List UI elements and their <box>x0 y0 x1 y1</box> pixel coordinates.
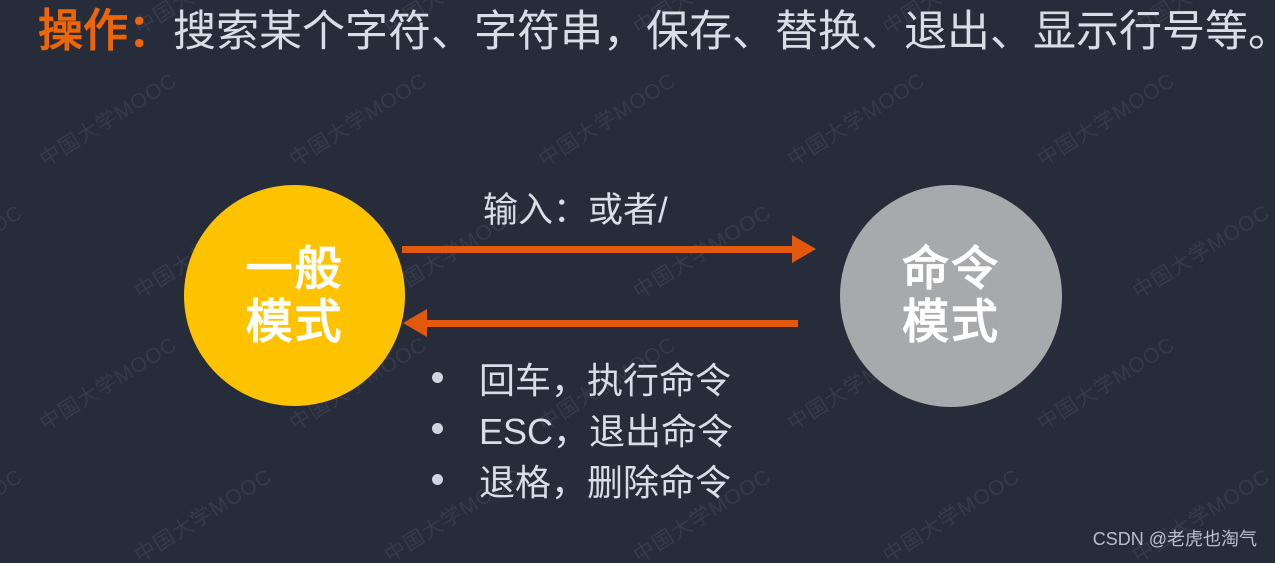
watermark-text: 中国大学MOOC <box>1031 65 1180 174</box>
bullet-dot-icon <box>432 474 443 485</box>
watermark-text: 中国大学MOOC <box>0 197 28 306</box>
arrow-caption-enter-command-mode: 输入：或者/ <box>483 182 668 233</box>
normal-mode-label-line1: 一般 <box>246 243 344 296</box>
key-list-label-3: 退格，删除命令 <box>479 454 731 506</box>
watermark-text: 中国大学MOOC <box>0 0 28 41</box>
key-list-label-2: ESC，退出命令 <box>479 403 733 455</box>
arrowhead-left-icon <box>403 309 427 337</box>
command-mode-node: 命令 模式 <box>840 185 1062 407</box>
list-item: ESC，退出命令 <box>432 403 733 454</box>
command-key-list: 回车，执行命令 ESC，退出命令 退格，删除命令 <box>432 352 733 505</box>
arrow-command-to-normal <box>403 309 798 337</box>
bullet-dot-icon <box>432 372 443 383</box>
watermark-text: 中国大学MOOC <box>1031 329 1180 438</box>
bullet-dot-icon <box>432 423 443 434</box>
watermark-text: 中国大学MOOC <box>532 65 681 174</box>
watermark-row: 中国大学MOOC中国大学MOOC中国大学MOOC中国大学MOOC中国大学MOOC… <box>0 0 1275 2</box>
command-mode-label-line1: 命令 <box>902 243 1000 296</box>
title-body-label: 搜索某个字符、字符串，保存、替换、退出、显示行号等。 <box>173 8 1275 56</box>
watermark-text: 中国大学MOOC <box>876 461 1025 563</box>
key-list-label-1: 回车，执行命令 <box>479 352 731 404</box>
list-item: 回车，执行命令 <box>432 352 733 403</box>
arrow-shaft <box>402 246 792 253</box>
watermark-text: 中国大学MOOC <box>33 329 182 438</box>
csdn-watermark: CSDN @老虎也淘气 <box>1093 525 1257 551</box>
watermark-text: 中国大学MOOC <box>781 65 930 174</box>
normal-mode-node: 一般 模式 <box>184 185 405 406</box>
watermark-text: 中国大学MOOC <box>128 461 277 563</box>
arrow-normal-to-command <box>402 235 816 263</box>
watermark-text: 中国大学MOOC <box>33 65 182 174</box>
watermark-text: 中国大学MOOC <box>0 461 28 563</box>
watermark-text: 中国大学MOOC <box>1126 197 1275 306</box>
watermark-row: 中国大学MOOC中国大学MOOC中国大学MOOC中国大学MOOC中国大学MOOC… <box>0 104 1275 134</box>
normal-mode-label-line2: 模式 <box>246 296 344 349</box>
command-mode-label-line2: 模式 <box>902 296 1000 349</box>
list-item: 退格，删除命令 <box>432 454 733 505</box>
title-emphasis-label: 操作： <box>38 5 173 56</box>
page-title: 操作：搜索某个字符、字符串，保存、替换、退出、显示行号等。 <box>38 8 1275 54</box>
watermark-text: 中国大学MOOC <box>283 65 432 174</box>
slide-canvas: 中国大学MOOC中国大学MOOC中国大学MOOC中国大学MOOC中国大学MOOC… <box>0 0 1275 563</box>
arrowhead-right-icon <box>792 235 816 263</box>
arrow-shaft <box>427 320 798 327</box>
